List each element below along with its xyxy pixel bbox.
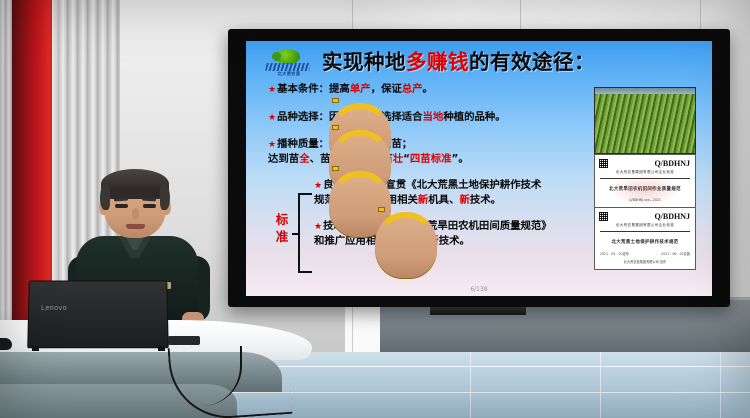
slide-title-highlight: 多赚钱 — [406, 50, 469, 74]
bullet-star-icon: ★ — [268, 85, 276, 95]
standard-document-2: Q/BDHNJ 北大荒农垦集团有限公司企业标准 北大荒黑土地保护耕作技术规范 2… — [594, 208, 696, 270]
bullet-text-segment: 四苗标准 — [410, 153, 452, 165]
slide-title: 实现种地多赚钱的有效途径： — [322, 49, 652, 75]
slide-page-number: 6/138 — [246, 286, 712, 293]
presenter-nose — [132, 208, 139, 220]
barcode-icon — [599, 159, 608, 168]
flow-arrow-down-icon — [268, 166, 568, 179]
bullet-text-segment: ”。 — [451, 153, 468, 165]
bullet-text-segment: 种植的品种。 — [443, 111, 505, 123]
slide-figure-column: Q/BDHNJ 北大荒农垦集团有限公司企业标准 北大荒旱田农机田间作业质量规范 … — [594, 87, 696, 270]
wall-display[interactable]: 北大荒农垦 实现种地多赚钱的有效途径： ★基本条件：提高单产，保证总产。★品种选… — [228, 29, 730, 307]
slide-title-suffix: 的有效途径： — [469, 50, 595, 74]
flow-arrow-down-icon — [268, 98, 568, 111]
presenter-mouth — [126, 224, 145, 229]
bullet-text-segment: 当地 — [423, 111, 444, 123]
slide-bullet-list: ★基本条件：提高单产，保证总产。★品种选择：因地制宜，选择适合当地种植的品种。★… — [268, 83, 568, 248]
doc2-effect-date: 2021 - 06 - 01实施 — [661, 251, 690, 256]
slide-bullet-line: ★品种选择：因地制宜，选择适合当地种植的品种。 — [268, 111, 568, 126]
standards-bracket — [298, 193, 312, 273]
bullet-text-segment: 、苗 — [310, 153, 331, 165]
doc2-org: 北大荒农垦集团有限公司企业标准 — [600, 223, 690, 228]
logo-caption: 北大荒农垦 — [267, 71, 311, 77]
doc2-rule — [600, 231, 690, 232]
bullet-text-segment: 全 — [299, 153, 309, 165]
logo-leaf-shape — [276, 49, 300, 64]
doc2-title: 北大荒黑土地保护耕作技术规范 — [600, 239, 690, 245]
floor-line-3 — [470, 352, 471, 418]
standard-document-1: Q/BDHNJ 北大荒农垦集团有限公司企业标准 北大荒旱田农机田间作业质量规范 … — [594, 154, 696, 208]
beidahuang-logo-icon: 北大荒农垦 — [264, 49, 312, 79]
barcode-icon-2 — [599, 212, 608, 221]
doc2-issuer: 北大荒农垦集团有限公司 发布 — [600, 259, 690, 264]
bullet-text-segment: 。 — [423, 83, 433, 95]
floor-line-5 — [720, 352, 721, 418]
laptop-foot-right — [158, 346, 165, 351]
doc2-dates: 2021 - 05 - 20发布 2021 - 06 - 01实施 — [600, 251, 690, 256]
doc1-watermark — [609, 173, 681, 207]
presenter-hair-left — [100, 184, 110, 210]
screenshot-stage: 北大荒农垦 实现种地多赚钱的有效途径： ★基本条件：提高单产，保证总产。★品种选… — [0, 0, 750, 418]
standards-label-char-1: 标 — [276, 212, 289, 227]
bullet-text-segment: 技术。 — [470, 194, 501, 206]
floor-line-4 — [600, 352, 601, 418]
bullet-star-icon: ★ — [314, 181, 322, 191]
standards-label: 标 准 — [270, 211, 294, 245]
presenter-eye-left — [115, 204, 128, 208]
display-stand — [430, 307, 526, 315]
bullet-text-segment: 壮 — [393, 153, 403, 165]
flow-arrow-down-icon — [268, 125, 568, 138]
standards-label-char-2: 准 — [276, 229, 289, 244]
bullet-text-segment: 基本条件：提高 — [277, 83, 350, 95]
bullet-text-segment: “ — [403, 153, 410, 165]
bullet-text-segment: 机具、 — [428, 194, 459, 206]
doc1-code: Q/BDHNJ — [600, 159, 690, 168]
bullet-text-segment: 新 — [418, 194, 428, 206]
slide-bullet-line: ★基本条件：提高单产，保证总产。 — [268, 83, 568, 98]
bullet-text-segment: 技术。 — [439, 235, 470, 247]
presenter-eye-right — [143, 204, 156, 208]
flow-arrow-down-icon — [268, 207, 568, 220]
usb-dongle — [168, 336, 200, 345]
bullet-text-segment: 达到苗 — [268, 153, 299, 165]
bullet-text-segment: 总产 — [402, 83, 423, 95]
presenter-hair-right — [160, 184, 170, 210]
bullet-star-icon: ★ — [314, 222, 322, 232]
slide-bullet-line: 达到苗全、苗齐、苗匀、苗壮“四苗标准”。 — [268, 153, 568, 167]
bullet-star-icon: ★ — [268, 140, 276, 150]
slide-title-prefix: 实现种地 — [322, 50, 406, 74]
slide-bullet-line: 规范》和推广应用相关新机具、新技术。 — [268, 194, 568, 208]
bullet-text-segment: 新 — [459, 194, 469, 206]
doc2-code: Q/BDHNJ — [600, 212, 690, 221]
slide-bullet-line: ★播种质量：一次播种保全苗； — [268, 138, 568, 153]
laptop-brand-label: Lenovo — [41, 305, 67, 312]
bullet-text-segment: 单产 — [350, 83, 371, 95]
bullet-text-segment: ，保证 — [371, 83, 402, 95]
doc2-issue-date: 2021 - 05 - 20发布 — [600, 251, 629, 256]
laptop-foot-left — [32, 346, 39, 351]
bullet-star-icon: ★ — [268, 113, 276, 123]
logo-stripes-shape — [265, 63, 311, 71]
laptop[interactable]: Lenovo — [27, 280, 169, 348]
presentation-slide: 北大荒农垦 实现种地多赚钱的有效途径： ★基本条件：提高单产，保证总产。★品种选… — [246, 41, 712, 296]
bullet-text-segment: 苗； — [391, 138, 412, 150]
slide-bullet-line: ★良好的种床：宣贯《北大荒黑土地保护耕作技术 — [268, 179, 568, 194]
computer-mouse[interactable] — [0, 338, 12, 350]
presenter-hair — [101, 169, 169, 199]
crop-field-photo — [594, 87, 696, 154]
